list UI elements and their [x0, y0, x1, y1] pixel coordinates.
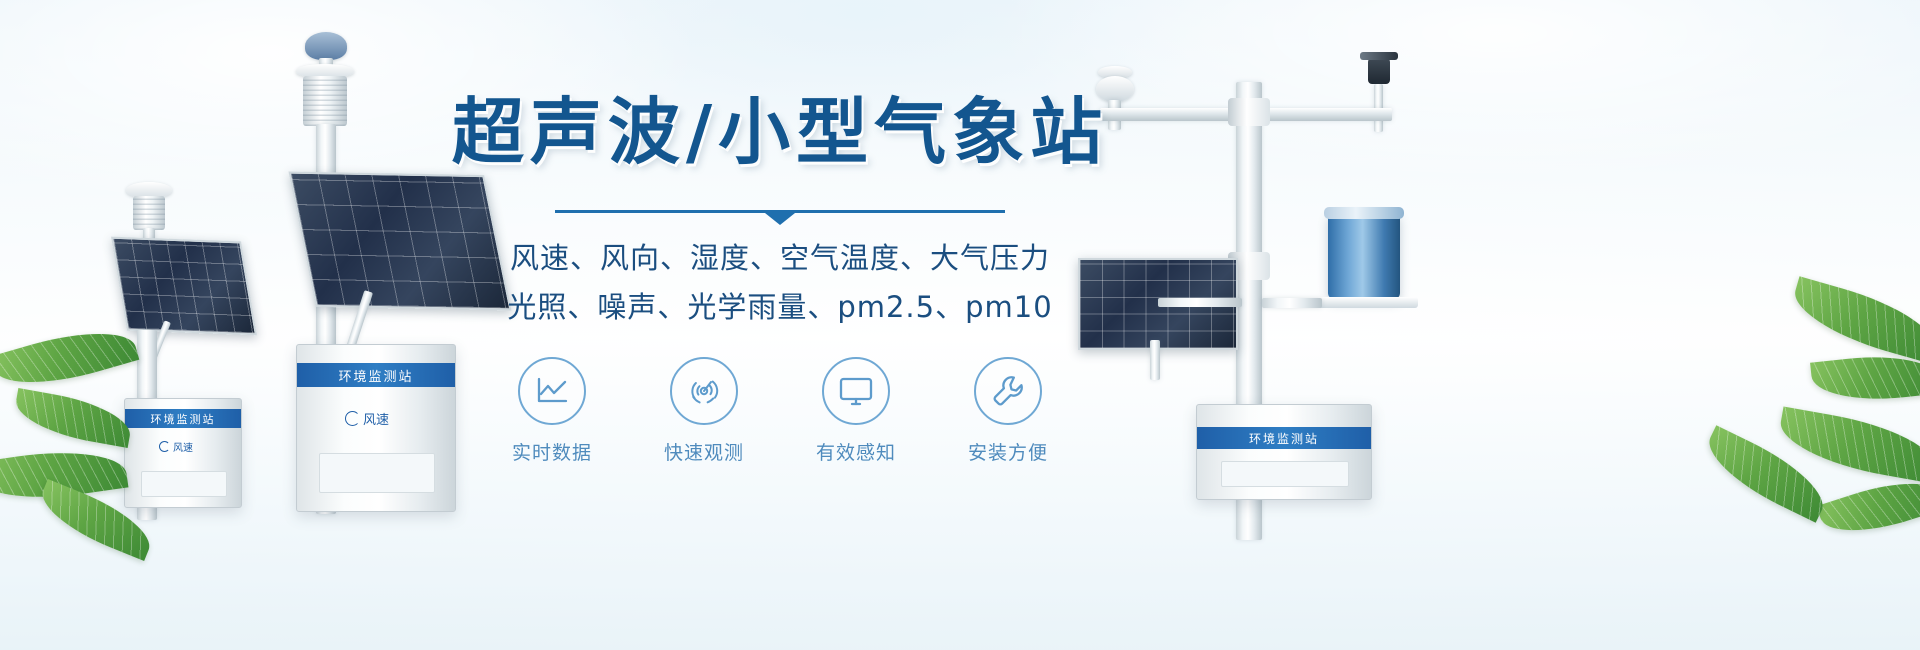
right-box-label: 环境监测站 [1197, 427, 1371, 449]
optical-sensor-visor [1360, 52, 1398, 60]
left-box-vent [141, 471, 227, 497]
feature-fast-observation[interactable]: 快速观测 [649, 357, 759, 465]
feature-easy-installation[interactable]: 安装方便 [953, 357, 1063, 465]
center-brand-text: 风速 [363, 409, 389, 428]
product-banner: 环境监测站 风速 环境监测站 风速 [0, 0, 1920, 650]
left-box-label: 环境监测站 [125, 409, 241, 428]
feature-effective-sensing[interactable]: 有效感知 [801, 357, 911, 465]
banner-content: 超声波/小型气象站 风速、风向、湿度、空气温度、大气压力 光照、噪声、光学雨量、… [430, 96, 1130, 465]
feature-label: 快速观测 [649, 438, 759, 465]
feature-label: 安装方便 [953, 438, 1063, 465]
rain-gauge-arm [1262, 298, 1322, 308]
radar-signal-icon [670, 357, 738, 425]
center-box-brand: 风速 [345, 409, 389, 428]
left-control-box: 环境监测站 风速 [124, 398, 242, 508]
right-panel-support [1150, 340, 1160, 380]
rain-gauge [1328, 213, 1400, 299]
center-sensor-stack [303, 76, 347, 126]
left-sensor-stack [133, 196, 165, 230]
subtitle-line-2: 光照、噪声、光学雨量、pm2.5、pm10 [430, 284, 1130, 331]
subtitle-line-1: 风速、风向、湿度、空气温度、大气压力 [430, 235, 1130, 282]
line-chart-icon [518, 357, 586, 425]
feature-list: 实时数据 快速观测 [430, 357, 1130, 465]
rain-gauge-shelf [1312, 297, 1418, 308]
left-box-brand: 风速 [159, 439, 193, 454]
left-solar-panel [111, 237, 257, 336]
feature-label: 有效感知 [801, 438, 911, 465]
center-box-vent [319, 453, 435, 493]
center-dome-sensor [305, 32, 347, 60]
optical-sensor-head [1368, 58, 1390, 84]
page-title: 超声波/小型气象站 [430, 96, 1130, 168]
right-panel-arm [1158, 298, 1242, 307]
right-box-vent [1221, 461, 1349, 487]
monitor-icon [822, 357, 890, 425]
brand-mark-icon [345, 411, 360, 426]
brand-mark-icon [159, 441, 170, 452]
right-control-box: 环境监测站 [1196, 404, 1372, 500]
wrench-icon [974, 357, 1042, 425]
feature-label: 实时数据 [497, 438, 607, 465]
mast-clamp-upper [1228, 98, 1270, 126]
left-brand-text: 风速 [173, 439, 193, 454]
title-divider [555, 210, 1005, 213]
feature-realtime-data[interactable]: 实时数据 [497, 357, 607, 465]
rain-gauge-rim [1324, 207, 1404, 219]
